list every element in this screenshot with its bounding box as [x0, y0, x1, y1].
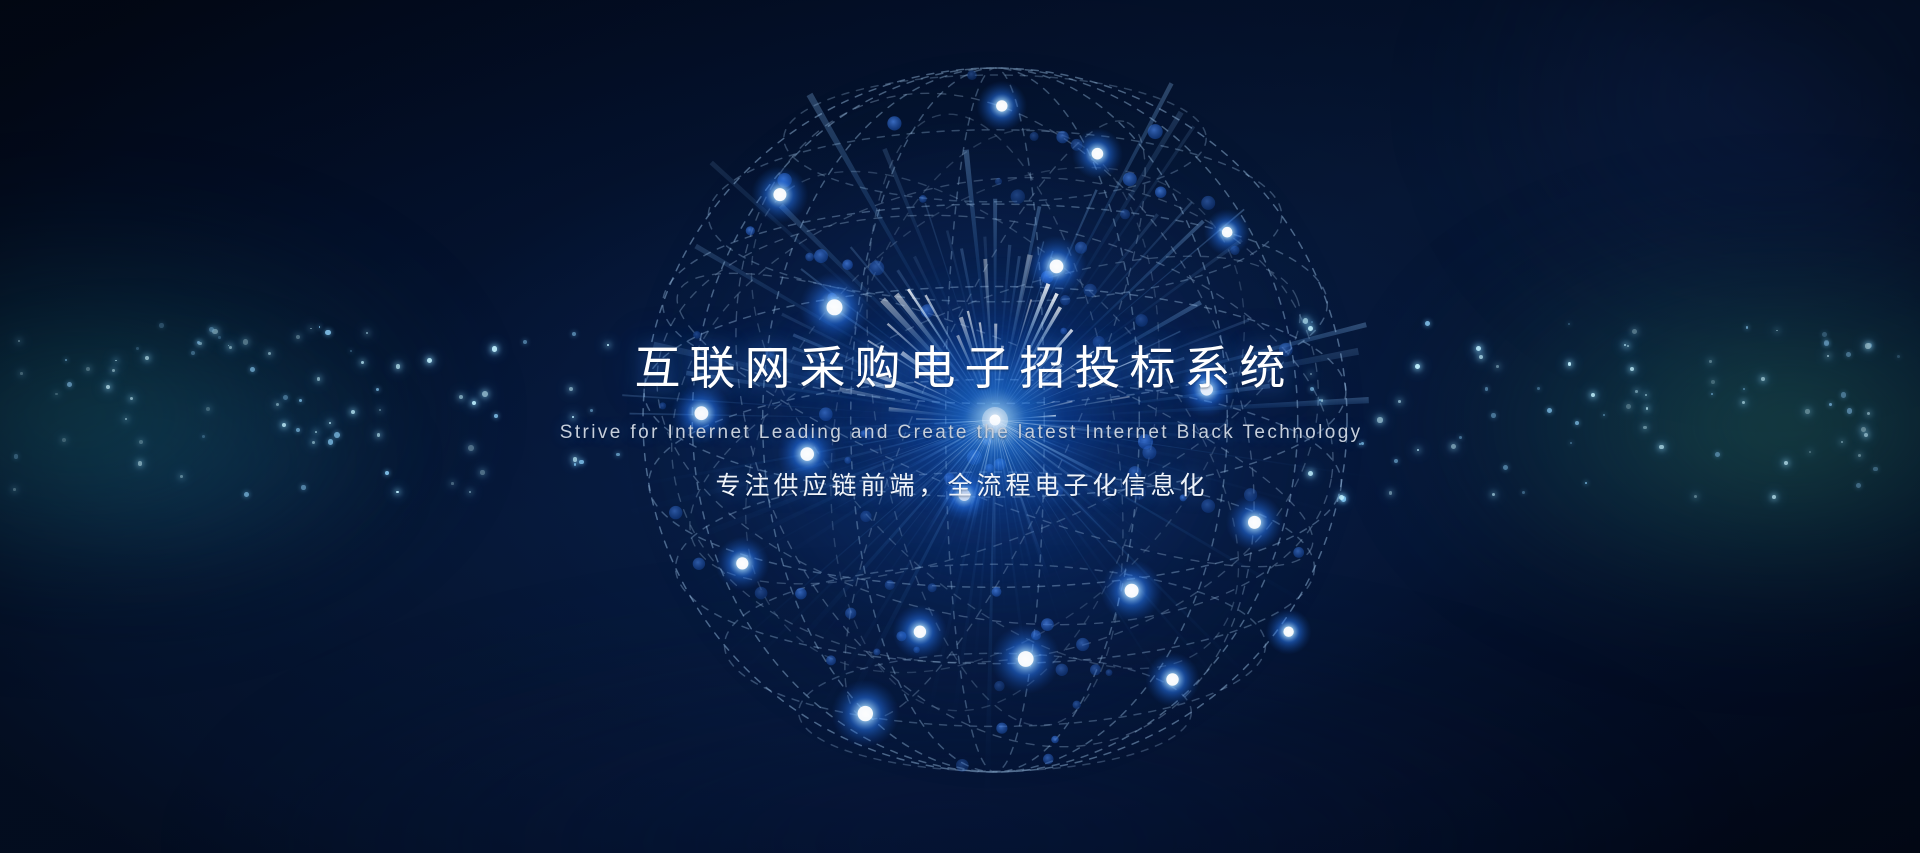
bottom-glow: [210, 613, 1710, 853]
particle-dot: [1568, 323, 1571, 326]
particle-dot: [366, 332, 368, 334]
particle-dot: [212, 329, 217, 334]
particle-dot: [1776, 330, 1778, 332]
particle-dot: [1632, 329, 1637, 334]
particle-dot: [325, 330, 331, 336]
particle-dot: [310, 328, 312, 330]
particle-dot: [1822, 332, 1828, 338]
particle-dot: [209, 327, 214, 332]
hero-text-block: 互联网采购电子招投标系统 Strive for Internet Leading…: [0, 338, 1920, 503]
particle-dot: [319, 326, 321, 328]
particle-dot: [1746, 326, 1748, 328]
particle-dot: [1425, 321, 1430, 326]
page-title: 互联网采购电子招投标系统: [0, 338, 1920, 398]
particle-dot: [1303, 318, 1308, 323]
hero-subtitle-en: Strive for Internet Leading and Create t…: [0, 420, 1920, 446]
particle-dot: [159, 323, 164, 328]
particle-dot: [1308, 326, 1313, 331]
hero-subtitle-cn: 专注供应链前端，全流程电子化信息化: [0, 469, 1920, 503]
particle-dot: [572, 332, 576, 336]
particle-dot: [1311, 321, 1313, 323]
top-right-glow: [1460, 0, 1920, 360]
hero-banner: 互联网采购电子招投标系统 Strive for Internet Leading…: [0, 0, 1920, 853]
